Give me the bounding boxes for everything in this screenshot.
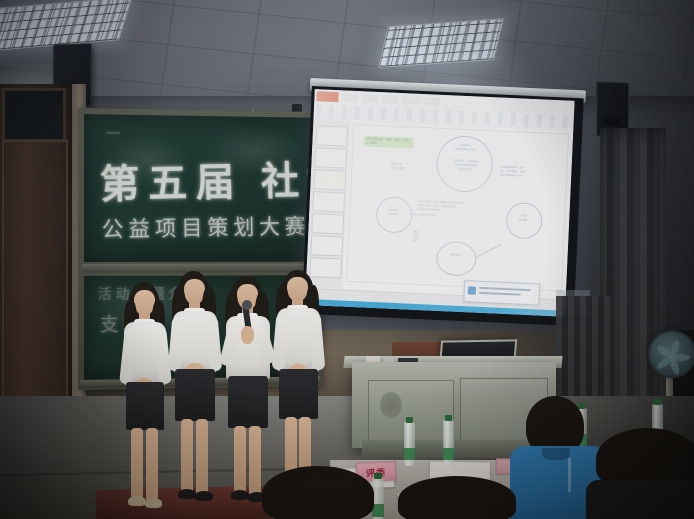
shirt-collar [542,448,570,460]
audience-head [398,476,516,519]
water-bottle[interactable] [404,422,415,466]
projected-image: 项目实施方案 （策划、执行、宣传） 设计重点 项目核心 （服务对象与目标） 需求… [305,89,575,317]
leg [181,419,193,493]
water-bottle[interactable] [443,420,454,466]
blackboard-faint-text: 一 [106,122,125,143]
black-skirt [126,382,164,430]
classroom-photo: 一 第五届 社协杯 公益项目策划大赛 活动主题介绍 支持管 [0,0,694,519]
pedestal-fan[interactable] [648,330,694,378]
black-skirt [279,369,318,419]
audience-head [262,466,374,519]
microphone-head [242,300,252,310]
black-skirt [175,369,215,421]
black-skirt [228,376,268,428]
shoe [195,491,213,501]
shoe [128,496,146,506]
screen-glare [305,89,575,317]
leg [131,428,143,500]
shoe [145,498,162,508]
audience-shoulder [586,480,694,519]
leg [146,428,158,502]
leg [234,426,246,494]
leg [249,426,261,496]
shoe [178,489,196,499]
hand [241,326,254,344]
leg [196,419,208,495]
ceiling-light-fixture [378,18,504,68]
door-transom-window [2,88,66,142]
blackboard-subtitle: 公益项目策划大赛 [102,209,311,244]
shirt-placket [568,458,571,492]
projection-screen: 项目实施方案 （策划、执行、宣传） 设计重点 项目核心 （服务对象与目标） 需求… [302,86,584,326]
blackboard-upper-panel: 一 第五届 社协杯 公益项目策划大赛 [84,114,316,262]
shoe [231,490,249,500]
